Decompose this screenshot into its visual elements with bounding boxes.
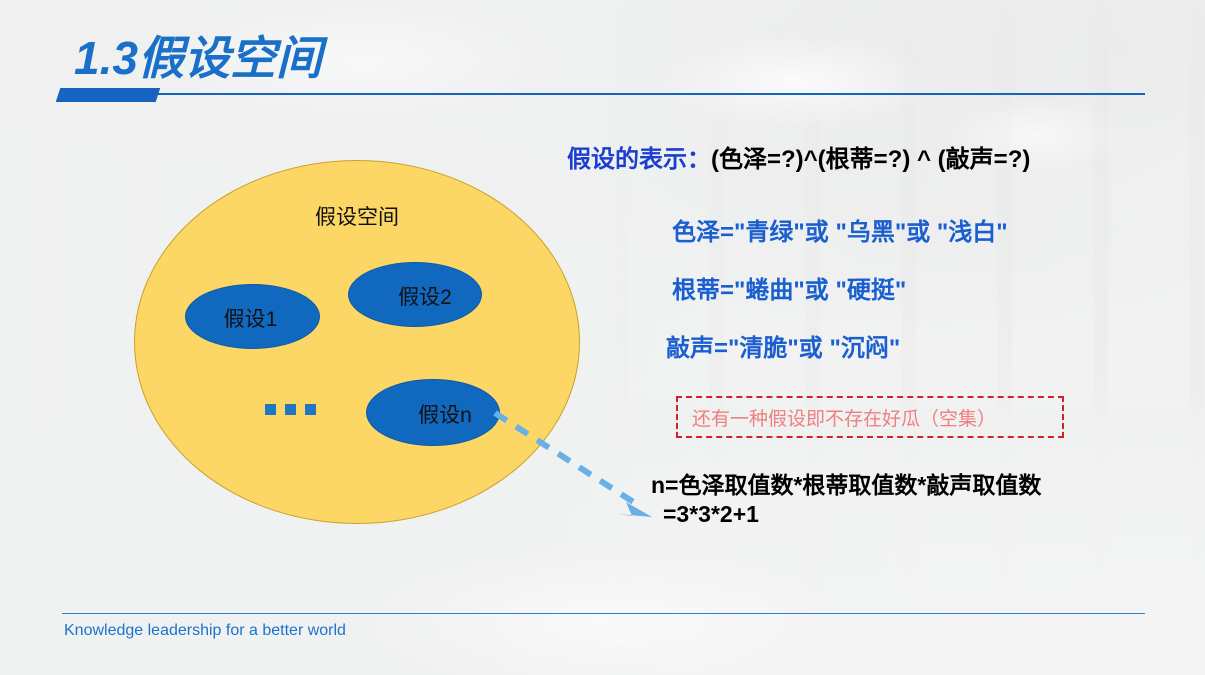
formula-line-1: n=色泽取值数*根蒂取值数*敲声取值数 <box>651 471 1041 500</box>
title-underline-rule <box>152 93 1145 95</box>
footer-tagline: Knowledge leadership for a better world <box>64 622 346 640</box>
dot-2 <box>285 404 296 415</box>
formula-line-2: =3*3*2+1 <box>651 500 1041 529</box>
attribute-line-root: 根蒂="蜷曲"或 "硬挺" <box>672 270 906 305</box>
dashed-arrow-icon <box>480 395 670 530</box>
heading-black-part: (色泽=?)^(根蒂=?) ^ (敲声=?) <box>711 146 1030 173</box>
hypothesis-label-2: 假设2 <box>398 281 452 311</box>
attribute-line-color: 色泽="青绿"或 "乌黑"或 "浅白" <box>672 212 1008 247</box>
hypothesis-label-1: 假设1 <box>224 303 278 333</box>
dot-3 <box>305 404 316 415</box>
heading-blue-part: 假设的表示： <box>567 146 711 173</box>
empty-set-note-text: 还有一种假设即不存在好瓜（空集） <box>678 404 996 431</box>
hypothesis-space-label: 假设空间 <box>135 201 579 231</box>
hypothesis-ellipse-1: 假设1 <box>185 284 320 349</box>
hypothesis-label-n: 假设n <box>418 399 472 429</box>
page-title: 1.3假设空间 <box>74 22 322 88</box>
title-underline-block <box>56 88 161 102</box>
slide-canvas: 1.3假设空间 假设空间 假设1 假设2 假设n 假设的表示：(色泽=?)^(根… <box>0 0 1205 675</box>
hypothesis-ellipse-2: 假设2 <box>348 262 482 327</box>
empty-set-note-box: 还有一种假设即不存在好瓜（空集） <box>676 396 1064 438</box>
dot-1 <box>265 404 276 415</box>
hypothesis-count-formula: n=色泽取值数*根蒂取值数*敲声取值数 =3*3*2+1 <box>651 471 1041 530</box>
ellipsis-dots-icon <box>265 404 316 415</box>
attribute-line-sound: 敲声="清脆"或 "沉闷" <box>666 328 900 363</box>
footer-divider <box>62 613 1145 614</box>
hypothesis-representation-heading: 假设的表示：(色泽=?)^(根蒂=?) ^ (敲声=?) <box>567 139 1030 174</box>
